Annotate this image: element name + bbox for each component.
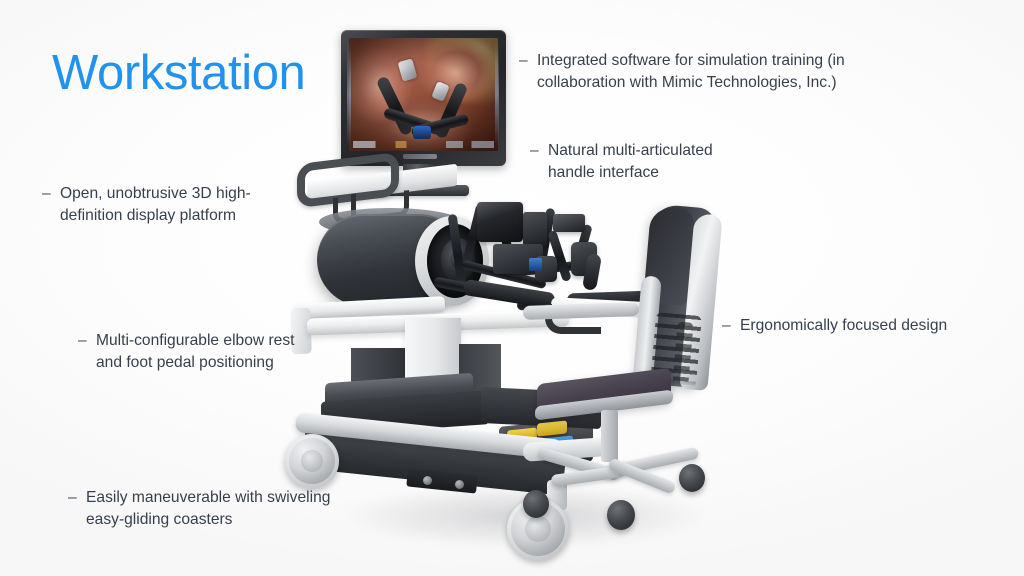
monitor-edge-right-glow (495, 42, 499, 147)
callout-elbow-rest: – Multi-configurable elbow rest and foot… (78, 330, 348, 375)
monitor-screen (349, 38, 498, 151)
chair-gas-cylinder (601, 410, 618, 462)
bullet-dash-icon: – (42, 183, 60, 205)
callout-text: Integrated software for simulation train… (537, 50, 909, 95)
endoscope-vignette (349, 38, 498, 151)
callout-handle-interface: – Natural multi-articulated handle inter… (530, 140, 770, 185)
console-caster-left-hub (301, 450, 323, 472)
workstation-product-image (255, 18, 785, 563)
bullet-dash-icon: – (68, 487, 86, 509)
chair-caster (607, 500, 635, 530)
bullet-dash-icon: – (530, 140, 548, 162)
handle-interface-block (523, 212, 547, 246)
callout-display-platform: – Open, unobtrusive 3D high- definition … (42, 183, 302, 228)
base-knob (455, 480, 464, 489)
bullet-dash-icon: – (78, 330, 96, 352)
callout-text: Ergonomically focused design (740, 315, 1002, 337)
callout-text: Multi-configurable elbow rest and foot p… (96, 330, 348, 375)
console-caster-right-hub (525, 516, 551, 542)
chair-caster (523, 490, 549, 518)
bullet-dash-icon: – (722, 315, 740, 337)
callout-text: Natural multi-articulated handle interfa… (548, 140, 770, 185)
chair-armrest (523, 302, 639, 320)
base-knob (423, 476, 432, 485)
handle-interface-block (553, 214, 585, 232)
chair-caster (679, 464, 705, 492)
screen-osd-strip (353, 141, 494, 148)
callout-text: Open, unobtrusive 3D high- definition di… (60, 183, 302, 228)
callout-integrated-software: – Integrated software for simulation tra… (519, 50, 909, 95)
callout-text: Easily maneuverable with swiveling easy-… (86, 487, 388, 532)
callout-maneuverability: – Easily maneuverable with swiveling eas… (68, 487, 388, 532)
bullet-dash-icon: – (519, 50, 537, 72)
slide-canvas: Workstation (0, 0, 1024, 576)
handle-interface-block (477, 202, 523, 242)
callout-ergonomic-design: – Ergonomically focused design (722, 315, 1002, 337)
handle-indicator (529, 258, 542, 271)
foot-pedal-yellow (537, 420, 567, 436)
monitor-logo (403, 154, 437, 159)
monitor-edge-left-glow (347, 42, 351, 147)
